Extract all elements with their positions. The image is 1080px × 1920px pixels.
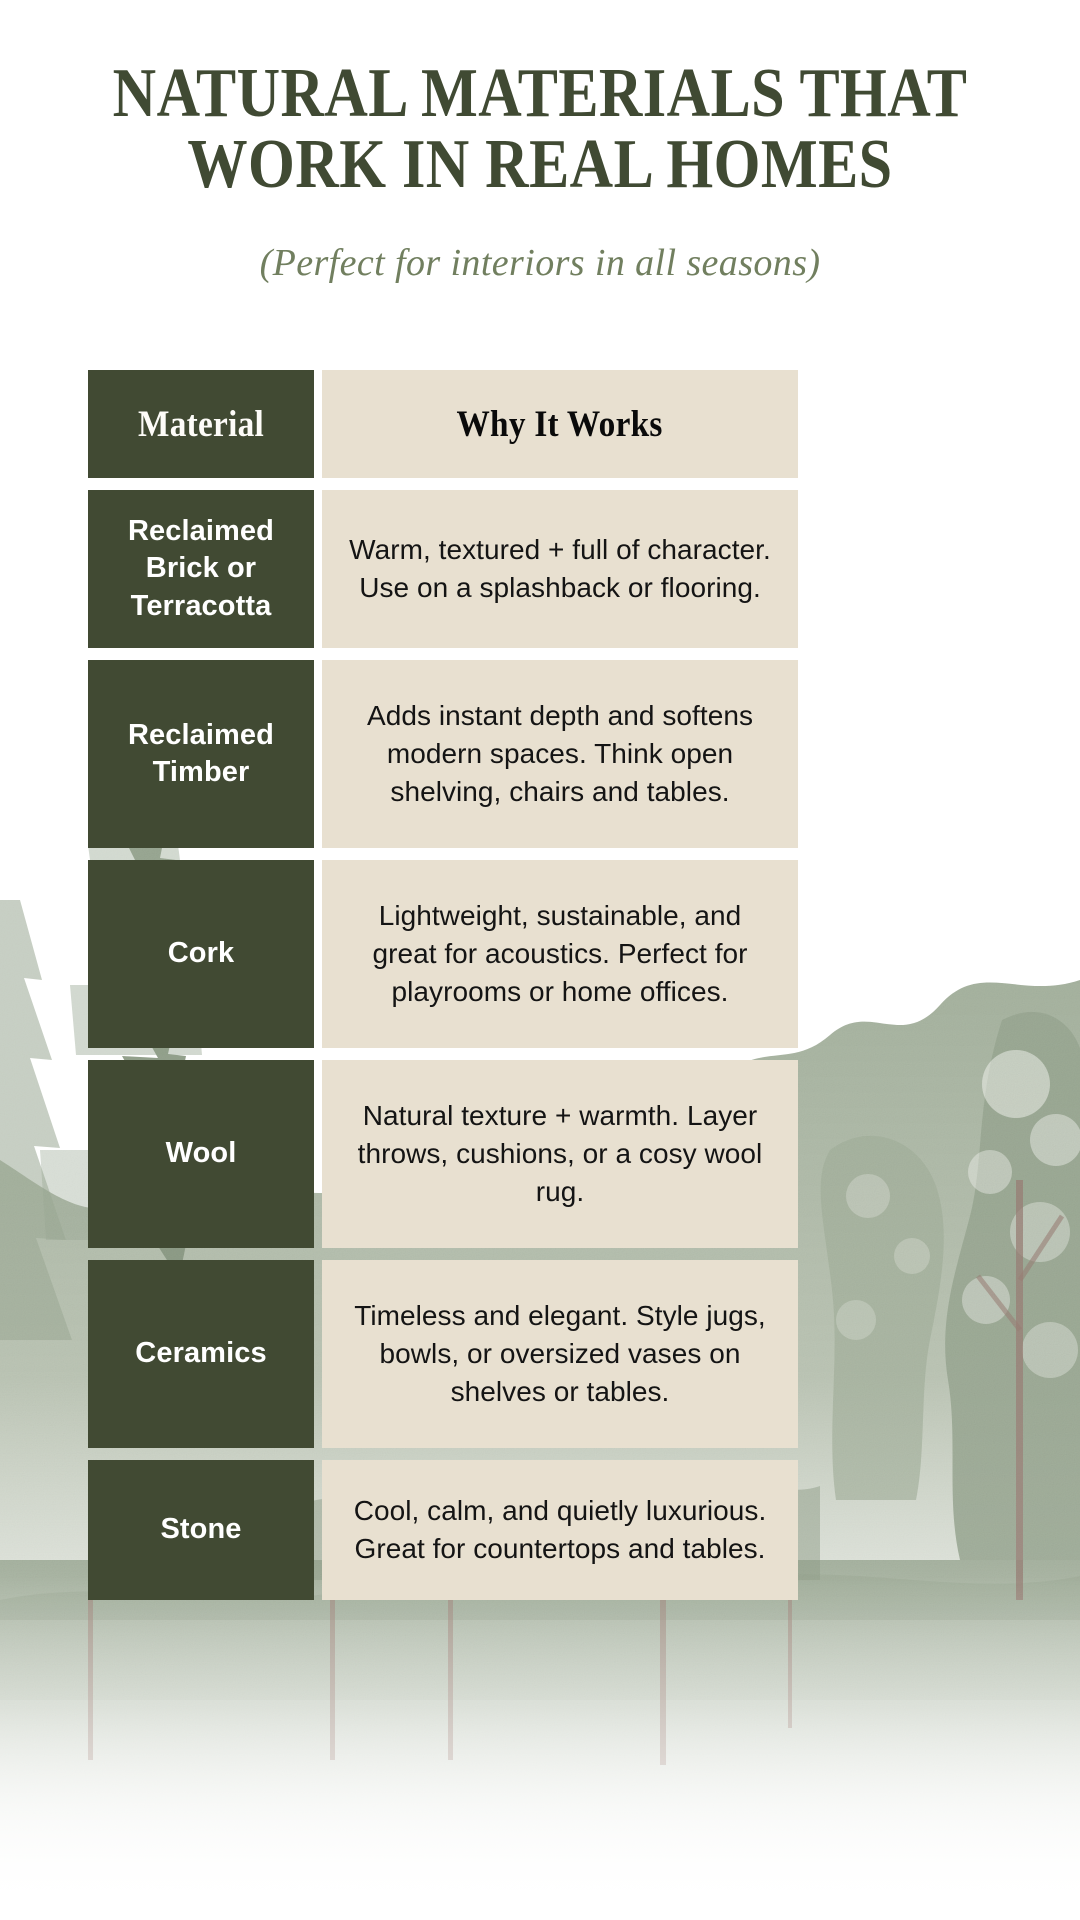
why-description: Cool, calm, and quietly luxurious. Great…	[348, 1492, 772, 1568]
material-cell: Wool	[88, 1060, 314, 1248]
material-name: Cork	[168, 935, 234, 972]
column-header-why-it-works: Why It Works	[322, 370, 798, 478]
material-cell: Stone	[88, 1460, 314, 1600]
why-description: Adds instant depth and softens modern sp…	[348, 697, 772, 810]
why-description: Timeless and elegant. Style jugs, bowls,…	[348, 1297, 772, 1410]
material-name: Reclaimed Timber	[102, 717, 300, 791]
why-cell: Adds instant depth and softens modern sp…	[322, 660, 798, 848]
column-header-material: Material	[88, 370, 314, 478]
material-name: Reclaimed Brick or Terracotta	[102, 513, 300, 624]
material-name: Ceramics	[135, 1335, 266, 1372]
why-cell: Cool, calm, and quietly luxurious. Great…	[322, 1460, 798, 1600]
why-cell: Warm, textured + full of character. Use …	[322, 490, 798, 648]
material-cell: Ceramics	[88, 1260, 314, 1448]
table-row: Ceramics Timeless and elegant. Style jug…	[88, 1260, 798, 1448]
table-row: Reclaimed Timber Adds instant depth and …	[88, 660, 798, 848]
why-cell: Natural texture + warmth. Layer throws, …	[322, 1060, 798, 1248]
page-subtitle: (Perfect for interiors in all seasons)	[0, 201, 1080, 285]
table-header-row: Material Why It Works	[88, 370, 798, 478]
why-cell: Lightweight, sustainable, and great for …	[322, 860, 798, 1048]
why-description: Natural texture + warmth. Layer throws, …	[348, 1097, 772, 1210]
materials-table: Material Why It Works Reclaimed Brick or…	[88, 370, 798, 1600]
table-row: Cork Lightweight, sustainable, and great…	[88, 860, 798, 1048]
material-name: Wool	[166, 1135, 237, 1172]
why-description: Warm, textured + full of character. Use …	[348, 531, 772, 607]
column-header-why-it-works-label: Why It Works	[457, 403, 663, 446]
poster-canvas: NATURAL MATERIALS THAT WORK IN REAL HOME…	[0, 0, 1080, 1920]
material-cell: Cork	[88, 860, 314, 1048]
column-header-material-label: Material	[138, 403, 264, 446]
table-row: Reclaimed Brick or Terracotta Warm, text…	[88, 490, 798, 648]
material-cell: Reclaimed Timber	[88, 660, 314, 848]
material-name: Stone	[160, 1511, 241, 1548]
why-description: Lightweight, sustainable, and great for …	[348, 897, 772, 1010]
poster-header: NATURAL MATERIALS THAT WORK IN REAL HOME…	[0, 0, 1080, 285]
why-cell: Timeless and elegant. Style jugs, bowls,…	[322, 1260, 798, 1448]
table-row: Wool Natural texture + warmth. Layer thr…	[88, 1060, 798, 1248]
material-cell: Reclaimed Brick or Terracotta	[88, 490, 314, 648]
page-title: NATURAL MATERIALS THAT WORK IN REAL HOME…	[76, 0, 1005, 201]
table-row: Stone Cool, calm, and quietly luxurious.…	[88, 1460, 798, 1600]
